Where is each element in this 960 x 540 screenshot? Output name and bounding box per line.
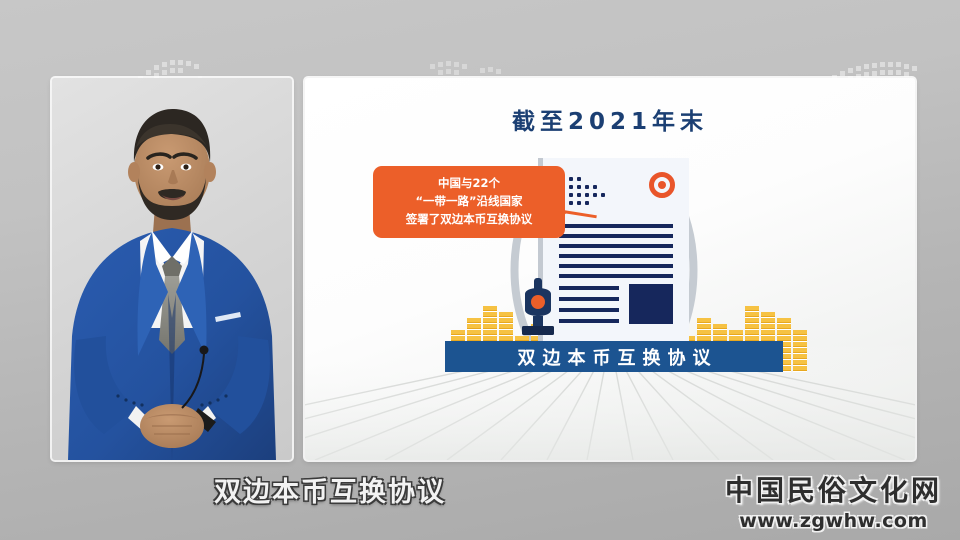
presenter-figure: [52, 78, 292, 460]
subtitle-caption: 双边本币互换协议: [0, 470, 660, 509]
callout-box: 中国与22个 “一带一路”沿线国家 签署了双边本币互换协议: [373, 166, 565, 238]
callout-line-3: 签署了双边本币互换协议: [379, 211, 559, 229]
watermark-url: www.zgwhw.com: [725, 510, 942, 532]
coin-stack: [793, 330, 807, 372]
callout-line-1: 中国与22个: [379, 175, 559, 193]
slide-title: 截至2021年末: [305, 102, 915, 136]
banner-label: 双边本币互换协议: [445, 341, 783, 372]
screen: 截至2021年末: [0, 0, 960, 540]
document-image-block: [629, 284, 673, 324]
infographic-slide-panel: 截至2021年末: [305, 78, 915, 460]
document-seal-icon: [649, 172, 675, 198]
watermark: 中国民俗文化网 www.zgwhw.com: [725, 469, 942, 532]
presenter-video-panel: [52, 78, 292, 460]
callout-line-2: “一带一路”沿线国家: [379, 193, 559, 211]
watermark-site-name: 中国民俗文化网: [725, 469, 942, 509]
rubber-stamp-icon: [521, 278, 555, 338]
